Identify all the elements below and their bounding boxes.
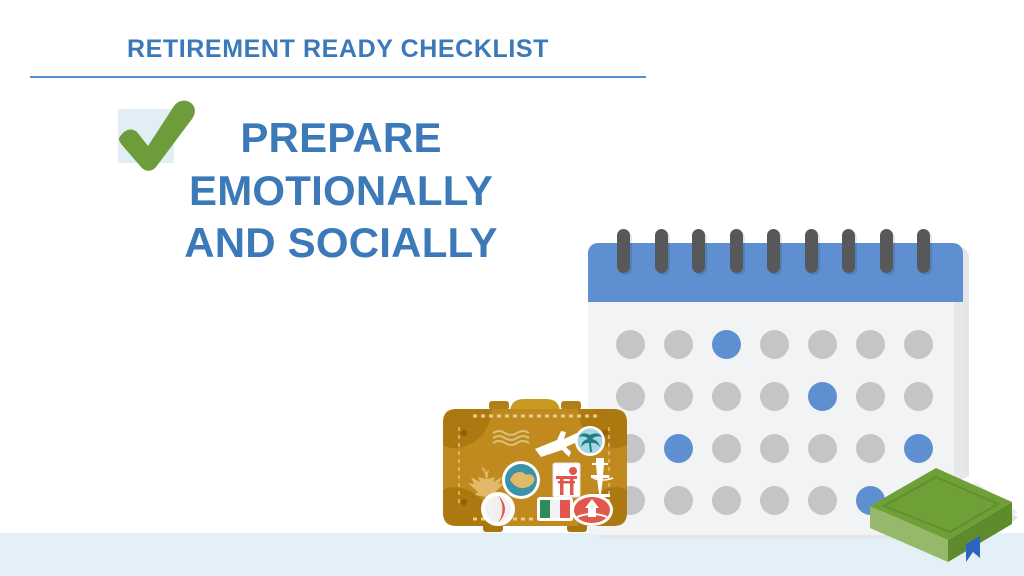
palm-tree-badge-sticker bbox=[575, 426, 605, 456]
slide-canvas: RETIREMENT READY CHECKLIST PREPARE EMOTI… bbox=[0, 0, 1024, 576]
calendar-day-dot bbox=[760, 486, 789, 515]
calendar-day-dot bbox=[712, 382, 741, 411]
book-icon bbox=[862, 462, 1022, 562]
page-title-line-2: EMOTIONALLY bbox=[155, 165, 527, 218]
suitcase-rivet bbox=[461, 499, 467, 505]
calendar-day-dot bbox=[664, 330, 693, 359]
calendar-day-dot bbox=[904, 330, 933, 359]
calendar-spiral-ring bbox=[880, 229, 893, 273]
suitcase-icon bbox=[437, 383, 633, 543]
torii-gate-sticker bbox=[553, 463, 580, 497]
calendar-day-dot bbox=[760, 382, 789, 411]
calendar-spiral-ring bbox=[730, 229, 743, 273]
suitcase-rivet bbox=[461, 430, 467, 436]
calendar-spiral-ring bbox=[767, 229, 780, 273]
calendar-day-dot bbox=[856, 434, 885, 463]
calendar-day-dot bbox=[616, 330, 645, 359]
header-divider bbox=[30, 76, 646, 78]
page-title-line-3: AND SOCIALLY bbox=[155, 217, 527, 270]
calendar-day-dot-highlighted bbox=[904, 434, 933, 463]
calendar-day-dot bbox=[760, 434, 789, 463]
calendar-day-dot bbox=[664, 382, 693, 411]
page-title: PREPARE EMOTIONALLY AND SOCIALLY bbox=[155, 112, 527, 270]
calendar-day-dot bbox=[856, 382, 885, 411]
suitcase-lug-right bbox=[561, 401, 581, 410]
calendar-day-dot-highlighted bbox=[664, 434, 693, 463]
red-landmark-badge-sticker bbox=[571, 494, 613, 526]
suitcase-lug-left bbox=[489, 401, 509, 410]
calendar-day-dot bbox=[808, 486, 837, 515]
page-title-line-1: PREPARE bbox=[155, 112, 527, 165]
calendar-day-dot bbox=[664, 486, 693, 515]
page-eyebrow-title: RETIREMENT READY CHECKLIST bbox=[30, 36, 646, 64]
calendar-day-dot bbox=[712, 486, 741, 515]
calendar-day-dot-highlighted bbox=[712, 330, 741, 359]
beach-ball-sticker bbox=[481, 492, 515, 526]
calendar-spiral-ring bbox=[842, 229, 855, 273]
calendar-spiral-ring bbox=[655, 229, 668, 273]
calendar-day-dot bbox=[808, 330, 837, 359]
calendar-day-dot bbox=[904, 382, 933, 411]
calendar-spiral-ring bbox=[805, 229, 818, 273]
calendar-spiral-ring bbox=[917, 229, 930, 273]
calendar-day-dot bbox=[856, 330, 885, 359]
calendar-day-dot bbox=[712, 434, 741, 463]
calendar-spiral-ring bbox=[692, 229, 705, 273]
calendar-day-dot bbox=[760, 330, 789, 359]
calendar-spiral-ring bbox=[617, 229, 630, 273]
calendar-day-dot-highlighted bbox=[808, 382, 837, 411]
australia-badge-sticker bbox=[502, 461, 540, 499]
calendar-day-dot bbox=[808, 434, 837, 463]
italy-flag-sticker bbox=[537, 497, 573, 521]
